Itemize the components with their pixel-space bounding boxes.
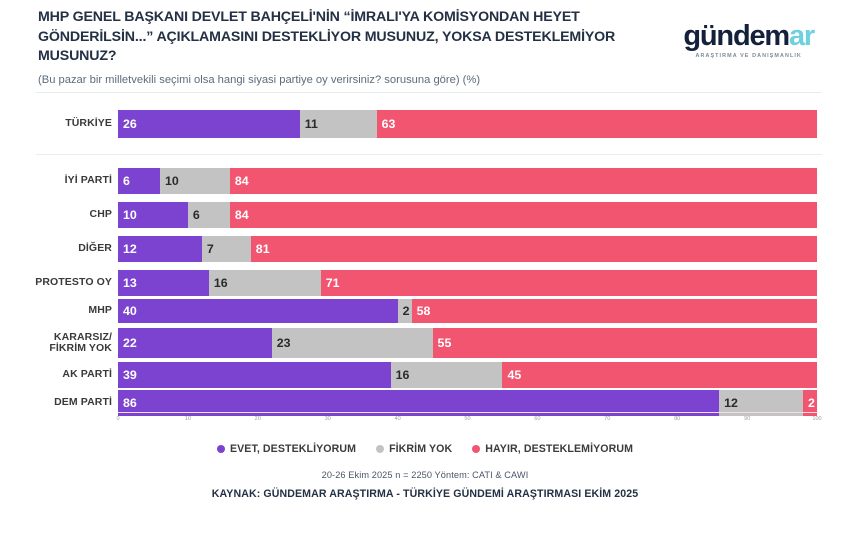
bar-track: 391645 — [118, 362, 817, 388]
bar-value-label: 86 — [118, 396, 137, 410]
logo-accent-text: ar — [789, 20, 814, 52]
chart-row: CHP10684 — [0, 202, 850, 228]
chart-header: MHP GENEL BAŞKANI DEVLET BAHÇELİ'NİN “İM… — [0, 0, 850, 92]
bar-value-label: 58 — [412, 304, 431, 318]
bar-value-label: 2 — [398, 304, 410, 318]
legend-item[interactable]: HAYIR, DESTEKLEMİYORUM — [472, 443, 633, 455]
bar-track: 222355 — [118, 328, 817, 358]
row-label: KARARSIZ/FİKRİM YOK — [0, 332, 118, 355]
header-divider — [36, 92, 822, 93]
bar-segment-fikrim-yok: 2 — [398, 299, 412, 323]
logo-wordmark: gündemar — [683, 22, 814, 51]
x-axis-tick-label: 20 — [255, 416, 261, 422]
bar-segment-hayir: 84 — [230, 202, 817, 228]
bar-value-label: 6 — [118, 174, 130, 188]
row-label: AK PARTİ — [0, 369, 118, 380]
row-label: İYİ PARTİ — [0, 175, 118, 186]
row-label: CHP — [0, 209, 118, 220]
bar-track: 61084 — [118, 168, 817, 194]
legend-color-swatch-icon — [472, 445, 480, 453]
x-axis: 0102030405060708090100 — [118, 412, 817, 432]
x-axis-tick-label: 40 — [394, 416, 400, 422]
legend-label: EVET, DESTEKLİYORUM — [230, 443, 356, 455]
bar-segment-hayir: 84 — [230, 168, 817, 194]
bar-value-label: 71 — [321, 276, 340, 290]
row-label: DİĞER — [0, 243, 118, 254]
title-block: MHP GENEL BAŞKANI DEVLET BAHÇELİ'NİN “İM… — [38, 8, 678, 87]
bar-value-label: 81 — [251, 242, 270, 256]
bar-segment-fikrim-yok: 10 — [160, 168, 230, 194]
bar-value-label: 22 — [118, 336, 137, 350]
bar-value-label: 40 — [118, 304, 137, 318]
bar-value-label: 13 — [118, 276, 137, 290]
bar-value-label: 23 — [272, 336, 291, 350]
row-label: MHP — [0, 305, 118, 316]
bar-value-label: 6 — [188, 208, 200, 222]
x-axis-tick-label: 70 — [604, 416, 610, 422]
footer-methodology-note: 20-26 Ekim 2025 n = 2250 Yöntem: CATI & … — [0, 470, 850, 480]
bar-segment-evet: 39 — [118, 362, 391, 388]
chart-row: İYİ PARTİ61084 — [0, 168, 850, 194]
x-axis-tick-label: 50 — [464, 416, 470, 422]
row-label: DEM PARTİ — [0, 397, 118, 408]
chart-row: DİĞER12781 — [0, 236, 850, 262]
legend-color-swatch-icon — [376, 445, 384, 453]
bar-value-label: 55 — [433, 336, 452, 350]
bar-value-label: 10 — [118, 208, 137, 222]
bar-segment-fikrim-yok: 23 — [272, 328, 433, 358]
legend-label: FİKRİM YOK — [389, 443, 452, 455]
x-axis-tick-label: 100 — [812, 416, 821, 422]
bar-segment-hayir: 45 — [502, 362, 817, 388]
chart-footer: 20-26 Ekim 2025 n = 2250 Yöntem: CATI & … — [0, 470, 850, 500]
chart-row: MHP40258 — [0, 299, 850, 323]
group-divider — [36, 154, 822, 155]
x-axis-tick-label: 0 — [116, 416, 119, 422]
chart-row: PROTESTO OY131671 — [0, 270, 850, 296]
bar-segment-evet: 13 — [118, 270, 209, 296]
bar-segment-evet: 40 — [118, 299, 398, 323]
bar-value-label: 12 — [719, 396, 738, 410]
bar-value-label: 84 — [230, 208, 249, 222]
bar-segment-fikrim-yok: 16 — [209, 270, 321, 296]
legend-item[interactable]: FİKRİM YOK — [376, 443, 452, 455]
bar-segment-hayir: 81 — [251, 236, 817, 262]
bar-value-label: 16 — [391, 368, 410, 382]
x-axis-tick-label: 30 — [325, 416, 331, 422]
bar-segment-hayir: 58 — [412, 299, 817, 323]
bar-value-label: 7 — [202, 242, 214, 256]
bar-segment-fikrim-yok: 7 — [202, 236, 251, 262]
bar-value-label: 11 — [300, 117, 318, 131]
x-axis-tick-label: 10 — [185, 416, 191, 422]
chart-legend: EVET, DESTEKLİYORUMFİKRİM YOKHAYIR, DEST… — [0, 443, 850, 455]
chart-row: KARARSIZ/FİKRİM YOK222355 — [0, 328, 850, 358]
x-axis-line — [118, 412, 817, 413]
bar-segment-hayir: 71 — [321, 270, 817, 296]
chart-plot-area: TÜRKİYE261163İYİ PARTİ61084CHP10684DİĞER… — [0, 100, 850, 435]
bar-segment-evet: 22 — [118, 328, 272, 358]
bar-track: 40258 — [118, 299, 817, 323]
bar-value-label: 16 — [209, 276, 228, 290]
legend-label: HAYIR, DESTEKLEMİYORUM — [485, 443, 633, 455]
bar-value-label: 39 — [118, 368, 137, 382]
logo-tagline: ARAŞTIRMA VE DANIŞMANLIK — [683, 53, 814, 59]
bar-track: 10684 — [118, 202, 817, 228]
x-axis-tick-label: 60 — [534, 416, 540, 422]
bar-segment-evet: 10 — [118, 202, 188, 228]
bar-segment-hayir: 63 — [377, 110, 817, 138]
legend-color-swatch-icon — [217, 445, 225, 453]
bar-value-label: 10 — [160, 174, 179, 188]
bar-track: 12781 — [118, 236, 817, 262]
bar-segment-evet: 6 — [118, 168, 160, 194]
chart-subtitle: (Bu pazar bir milletvekili seçimi olsa h… — [38, 74, 678, 87]
bar-segment-evet: 12 — [118, 236, 202, 262]
bar-segment-fikrim-yok: 6 — [188, 202, 230, 228]
bar-value-label: 26 — [118, 117, 137, 131]
logo-main-text: gündem — [683, 20, 789, 52]
row-label: TÜRKİYE — [0, 118, 118, 129]
bar-value-label: 12 — [118, 242, 137, 256]
chart-row: AK PARTİ391645 — [0, 362, 850, 388]
bar-value-label: 45 — [502, 368, 521, 382]
chart-title: MHP GENEL BAŞKANI DEVLET BAHÇELİ'NİN “İM… — [38, 8, 678, 67]
bar-segment-fikrim-yok: 11 — [300, 110, 377, 138]
bar-value-label: 63 — [377, 117, 396, 131]
chart-row: TÜRKİYE261163 — [0, 110, 850, 138]
footer-source-line: KAYNAK: GÜNDEMAR ARAŞTIRMA - TÜRKİYE GÜN… — [0, 488, 850, 500]
bar-value-label: 84 — [230, 174, 249, 188]
gundemar-logo: gündemar ARAŞTIRMA VE DANIŞMANLIK — [683, 22, 814, 59]
bar-track: 261163 — [118, 110, 817, 138]
bar-value-label: 2 — [803, 396, 815, 410]
x-axis-tick-label: 90 — [744, 416, 750, 422]
bar-segment-hayir: 55 — [433, 328, 817, 358]
bar-segment-evet: 26 — [118, 110, 300, 138]
bar-segment-fikrim-yok: 16 — [391, 362, 503, 388]
x-axis-tick-label: 80 — [674, 416, 680, 422]
legend-item[interactable]: EVET, DESTEKLİYORUM — [217, 443, 356, 455]
row-label: PROTESTO OY — [0, 277, 118, 288]
bar-track: 131671 — [118, 270, 817, 296]
